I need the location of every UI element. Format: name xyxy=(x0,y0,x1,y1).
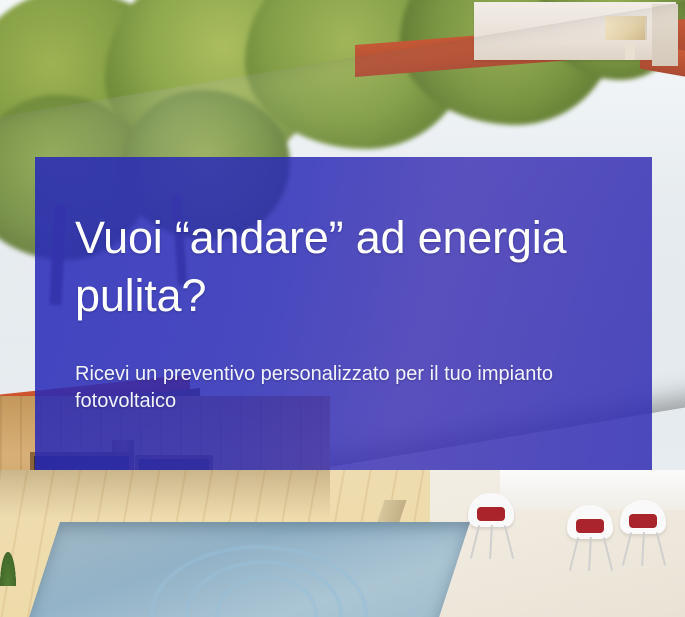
chair-cushion xyxy=(629,514,657,528)
hero-banner: Vuoi “andare” ad energia pulita? Ricevi … xyxy=(0,0,685,617)
small-plant xyxy=(0,552,16,586)
chair-cushion xyxy=(576,519,604,533)
chair-cushion xyxy=(477,507,505,521)
hero-headline: Vuoi “andare” ad energia pulita? xyxy=(75,209,615,325)
hero-subheadline: Ricevi un preventivo personalizzato per … xyxy=(75,361,585,415)
hero-text-block: Vuoi “andare” ad energia pulita? Ricevi … xyxy=(75,209,628,415)
deck-shadow xyxy=(0,470,330,518)
hero-overlay-panel: Vuoi “andare” ad energia pulita? Ricevi … xyxy=(35,157,652,470)
